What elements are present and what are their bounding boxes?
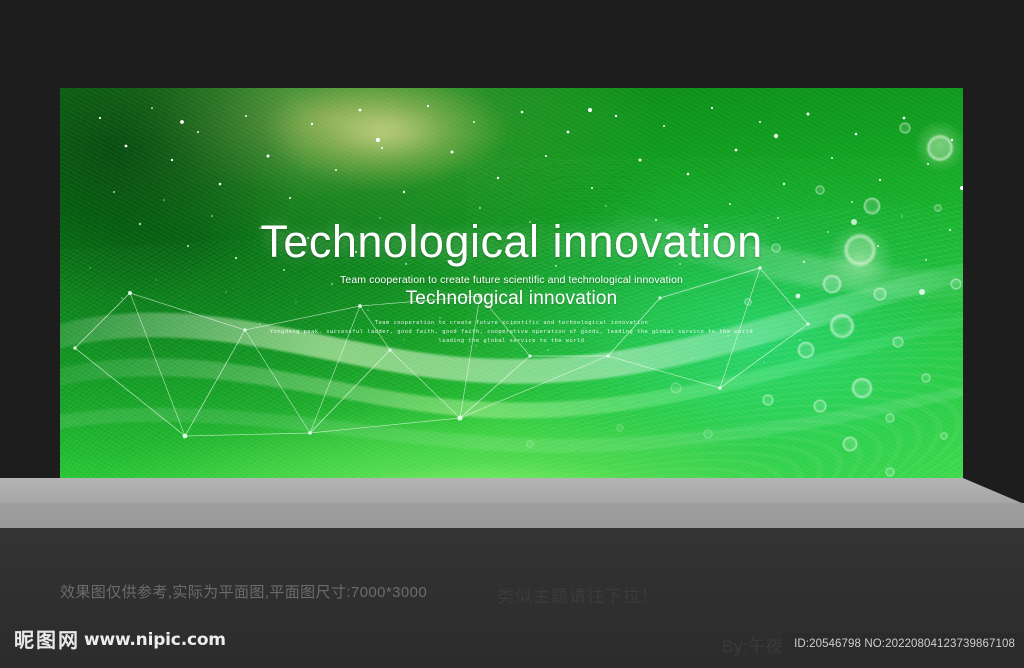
brand-char-1: 昵 — [14, 630, 34, 650]
brand-char-2: 图 — [36, 630, 56, 650]
banner-title: Technological innovation — [60, 216, 963, 268]
asset-id-badge: ID:20546798 NO:20220804123739867108 — [783, 633, 1024, 655]
platform-front-face — [0, 503, 1024, 528]
banner-micro-line-1: Team cooperation to create future scient… — [60, 320, 963, 326]
banner-micro-line-2: Yongdeng peak, successful ladder, good f… — [60, 329, 963, 335]
platform-top-surface — [0, 478, 1024, 504]
banner-bottom-glow — [60, 349, 963, 478]
center-watermark: 类似主题请往下拉！ — [497, 582, 659, 607]
banner-warm-flare — [204, 88, 565, 197]
banner-secondary-title: Technological innovation — [60, 288, 963, 310]
stage-caption: 效果图仅供参考,实际为平面图,平面图尺寸:7000*3000 — [60, 581, 427, 602]
brand-char-3: 网 — [58, 630, 78, 650]
nipic-logo[interactable]: 昵 图 网 www.nipic.com — [14, 630, 226, 650]
banner-micro-line-3: leading the global service to the world — [60, 338, 963, 344]
brand-url[interactable]: www.nipic.com — [84, 630, 226, 650]
led-banner: Technological innovation Team cooperatio… — [60, 88, 963, 478]
banner-subtitle-en: Team cooperation to create future scient… — [60, 274, 963, 286]
screenshot-canvas: Technological innovation Team cooperatio… — [0, 0, 1024, 668]
brand-cn-characters: 昵 图 网 — [14, 630, 78, 650]
